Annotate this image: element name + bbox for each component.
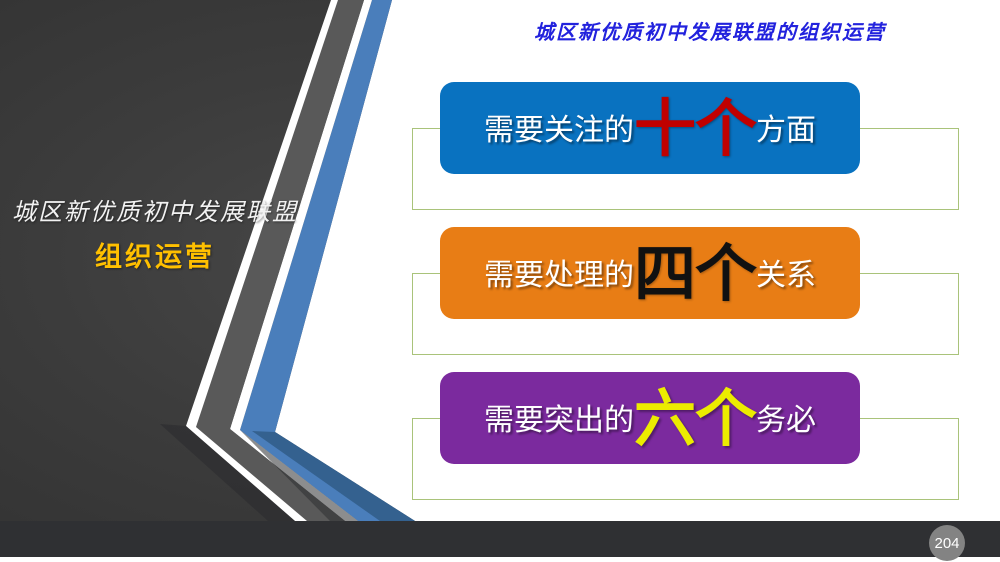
- page-number-badge: 204: [929, 525, 965, 561]
- slide-canvas: 城区新优质初中发展联盟 组织运营 城区新优质初中发展联盟的组织运营 需要关注的 …: [0, 0, 1000, 562]
- sidebar-title-line-1: 城区新优质初中发展联盟: [0, 192, 310, 227]
- pill-3-suffix: 务必: [756, 406, 816, 436]
- content-pill-1[interactable]: 需要关注的 十个 方面: [440, 82, 860, 174]
- pill-2-suffix: 关系: [756, 261, 816, 291]
- sidebar-title-block: 城区新优质初中发展联盟 组织运营: [0, 192, 310, 274]
- pill-1-highlight: 十个: [634, 98, 756, 160]
- pill-1-suffix: 方面: [756, 116, 816, 146]
- bottom-bar: [0, 521, 1000, 557]
- pill-2-prefix: 需要处理的: [484, 261, 634, 291]
- sidebar-title-line-2: 组织运营: [0, 235, 310, 274]
- pill-3-prefix: 需要突出的: [484, 406, 634, 436]
- page-title: 城区新优质初中发展联盟的组织运营: [430, 16, 990, 45]
- content-pill-3[interactable]: 需要突出的 六个 务必: [440, 372, 860, 464]
- content-pill-2[interactable]: 需要处理的 四个 关系: [440, 227, 860, 319]
- pill-1-prefix: 需要关注的: [484, 116, 634, 146]
- bottom-white-strip: [0, 557, 1000, 562]
- pill-3-highlight: 六个: [634, 388, 756, 450]
- pill-2-highlight: 四个: [634, 243, 756, 305]
